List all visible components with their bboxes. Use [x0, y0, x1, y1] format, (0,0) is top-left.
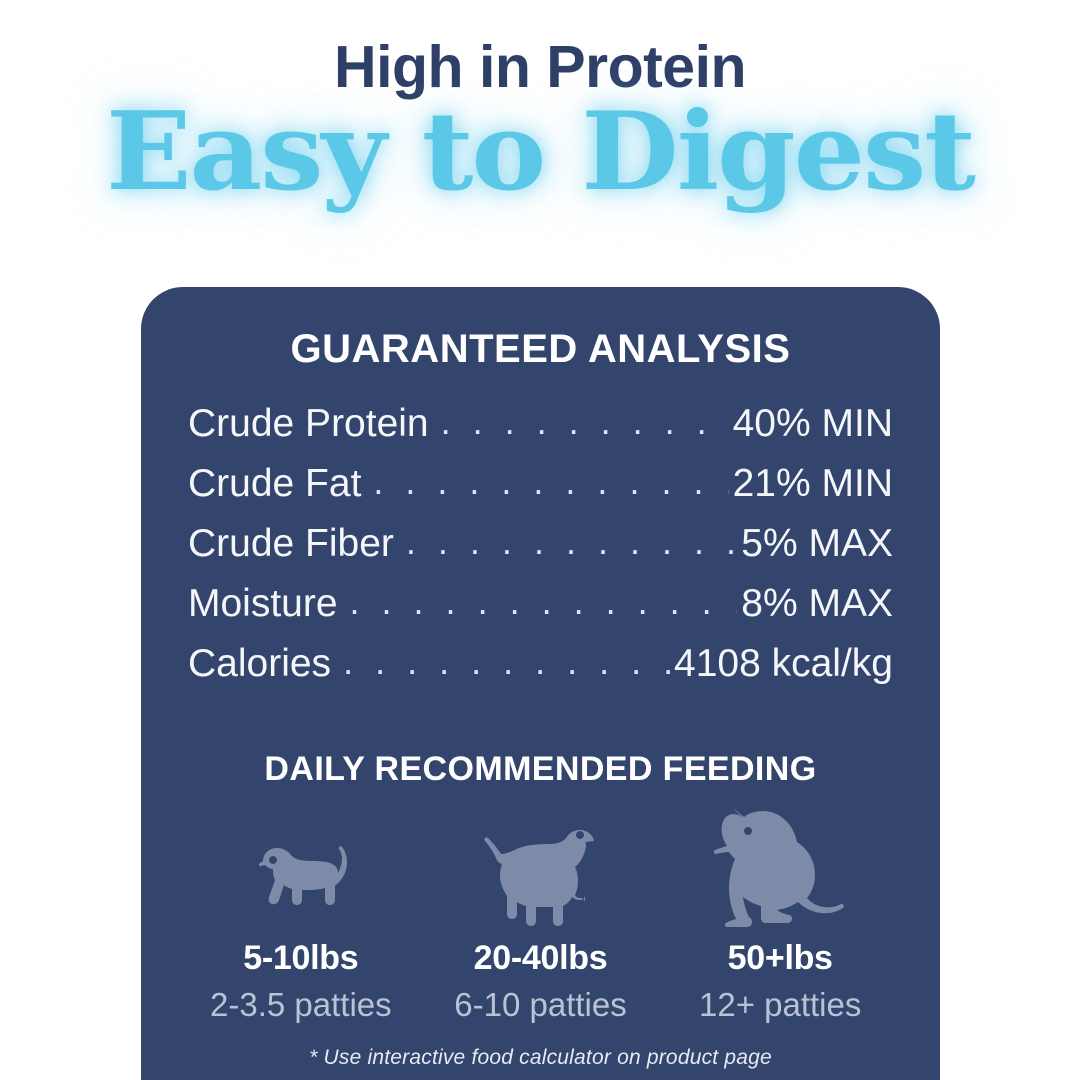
analysis-value: 5% MAX	[741, 522, 893, 566]
feeding-column-medium: 20-40lbs 6-10 patties	[421, 811, 661, 1024]
feeding-weight: 50+lbs	[660, 939, 900, 978]
analysis-value: 40% MIN	[733, 402, 893, 446]
headline-main-line: Easy to Digest	[0, 98, 1080, 206]
feeding-weight: 5-10lbs	[181, 939, 421, 978]
feeding-amount: 12+ patties	[660, 986, 900, 1024]
daily-feeding-title: DAILY RECOMMENDED FEEDING	[141, 750, 940, 789]
large-dog-icon	[660, 811, 900, 929]
analysis-label: Crude Fat	[188, 462, 361, 506]
dot-leader: . . . . . . . . . . . . . . . .	[343, 641, 670, 683]
feeding-amount: 2-3.5 patties	[181, 986, 421, 1024]
analysis-label: Crude Protein	[188, 402, 429, 446]
analysis-row: Crude Fat . . . . . . . . . . . . . . . …	[188, 462, 893, 522]
feeding-footnote: * Use interactive food calculator on pro…	[141, 1046, 940, 1070]
feeding-column-large: 50+lbs 12+ patties	[660, 811, 900, 1024]
dot-leader: . . . . . . . . . . . . . . . . .	[373, 461, 728, 503]
feeding-grid: 5-10lbs 2-3.5 patties 20-40lbs 6-10 patt…	[141, 811, 940, 1024]
analysis-row: Calories . . . . . . . . . . . . . . . .…	[188, 642, 893, 702]
feeding-column-small: 5-10lbs 2-3.5 patties	[181, 811, 421, 1024]
feeding-amount: 6-10 patties	[421, 986, 661, 1024]
guaranteed-analysis-list: Crude Protein . . . . . . . . . . . . . …	[188, 402, 893, 702]
analysis-value: 8% MAX	[741, 582, 893, 626]
feeding-weight: 20-40lbs	[421, 939, 661, 978]
guaranteed-analysis-title: GUARANTEED ANALYSIS	[141, 327, 940, 372]
analysis-label: Moisture	[188, 582, 338, 626]
dot-leader: . . . . . . . . . . . . . .	[441, 401, 729, 443]
dot-leader: . . . . . . . . . . . . . . . .	[406, 521, 737, 563]
nutrition-card: GUARANTEED ANALYSIS Crude Protein . . . …	[141, 287, 940, 1080]
analysis-label: Crude Fiber	[188, 522, 394, 566]
analysis-row: Crude Fiber . . . . . . . . . . . . . . …	[188, 522, 893, 582]
analysis-label: Calories	[188, 642, 331, 686]
analysis-value: 21% MIN	[733, 462, 893, 506]
analysis-row: Moisture . . . . . . . . . . . . . . . .…	[188, 582, 893, 642]
small-dog-icon	[181, 811, 421, 929]
dot-leader: . . . . . . . . . . . . . . . . . .	[350, 581, 738, 623]
analysis-value: 4108 kcal/kg	[674, 642, 893, 686]
headline-block: High in Protein Easy to Digest	[0, 0, 1080, 287]
analysis-row: Crude Protein . . . . . . . . . . . . . …	[188, 402, 893, 462]
medium-dog-icon	[421, 811, 661, 929]
